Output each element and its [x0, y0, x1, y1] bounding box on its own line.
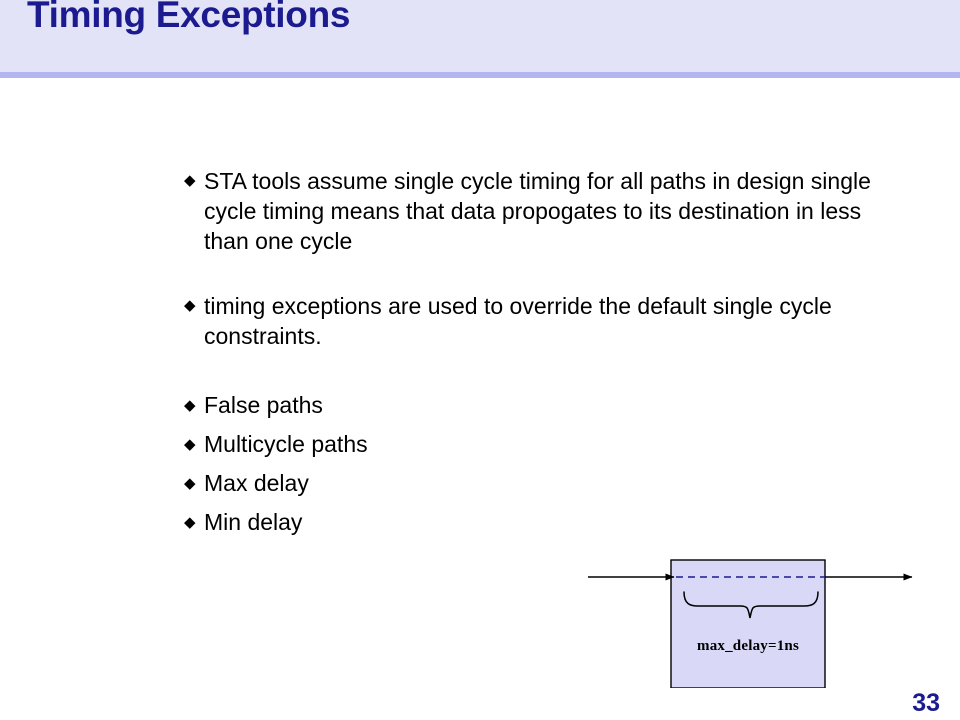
- list-item-label: Multicycle paths: [204, 425, 884, 464]
- bullet-paragraph: ◆ STA tools assume single cycle timing f…: [184, 166, 884, 256]
- diamond-bullet-icon: ◆: [184, 166, 204, 196]
- max-delay-label: max_delay=1ns: [671, 638, 825, 655]
- list-item: ◆ Multicycle paths: [184, 425, 884, 464]
- slide-title-band: Timing Exceptions: [0, 0, 960, 72]
- list-item: ◆ Max delay: [184, 464, 884, 503]
- paragraph-spacer: [184, 256, 884, 291]
- list-item: ◆ Min delay: [184, 503, 884, 542]
- diamond-bullet-icon: ◆: [184, 503, 204, 542]
- paragraph-spacer: [184, 351, 884, 386]
- list-item-label: Max delay: [204, 464, 884, 503]
- bullet-paragraph: ◆ timing exceptions are used to override…: [184, 291, 884, 351]
- slide-body: ◆ STA tools assume single cycle timing f…: [184, 166, 884, 542]
- bullet-paragraph-text: STA tools assume single cycle timing for…: [204, 166, 884, 256]
- diamond-bullet-icon: ◆: [184, 425, 204, 464]
- slide-number: 33: [912, 689, 940, 718]
- list-item-label: False paths: [204, 386, 884, 425]
- bullet-paragraph-text: timing exceptions are used to override t…: [204, 291, 884, 351]
- logic-block: [671, 560, 825, 688]
- list-item-label: Min delay: [204, 503, 884, 542]
- page-title: Timing Exceptions: [27, 0, 350, 36]
- timing-diagram: [580, 548, 925, 688]
- diamond-bullet-icon: ◆: [184, 464, 204, 503]
- diamond-bullet-icon: ◆: [184, 386, 204, 425]
- list-item: ◆ False paths: [184, 386, 884, 425]
- diamond-bullet-icon: ◆: [184, 291, 204, 321]
- title-divider-rule: [0, 72, 960, 78]
